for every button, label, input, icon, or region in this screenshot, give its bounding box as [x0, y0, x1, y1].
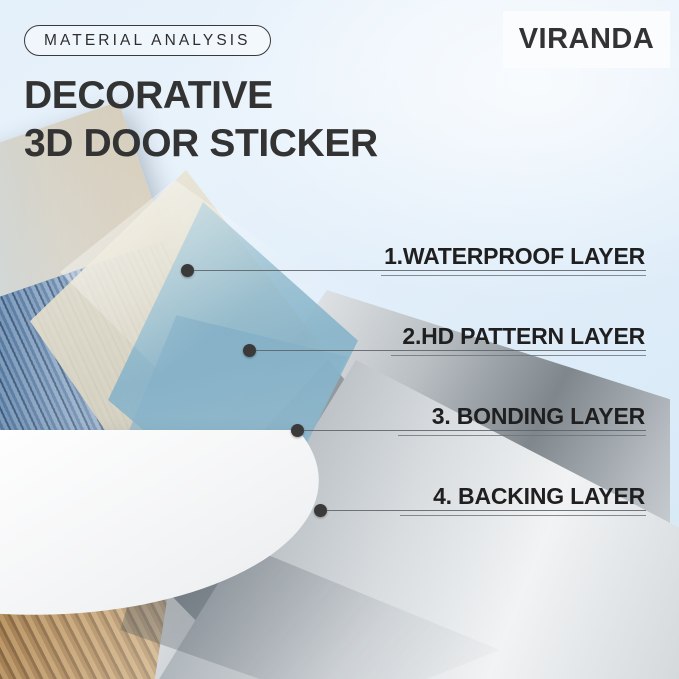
- page-title: DECORATIVE 3D DOOR STICKER: [24, 72, 378, 168]
- callout-3-leader-line: [304, 430, 646, 431]
- callout-3-underline: [398, 435, 646, 436]
- material-analysis-badge: MATERIAL ANALYSIS: [24, 25, 271, 56]
- infographic-canvas: MATERIAL ANALYSIS VIRANDA DECORATIVE 3D …: [0, 0, 679, 679]
- title-line-2: 3D DOOR STICKER: [24, 120, 378, 168]
- callout-2-label: 2.HD PATTERN LAYER: [345, 323, 645, 350]
- callout-1-label: 1.WATERPROOF LAYER: [345, 243, 645, 270]
- callout-2-dot: [243, 344, 256, 357]
- callout-2-underline: [391, 355, 646, 356]
- material-analysis-badge-label: MATERIAL ANALYSIS: [44, 32, 251, 50]
- callout-4-label: 4. BACKING LAYER: [345, 483, 645, 510]
- brand-name: VIRANDA: [519, 23, 655, 56]
- callout-3-dot: [291, 424, 304, 437]
- callout-2-leader-line: [256, 350, 646, 351]
- callout-1-underline: [381, 275, 646, 276]
- callout-1-dot: [181, 264, 194, 277]
- callout-4-dot: [314, 504, 327, 517]
- brand-logo-box: VIRANDA: [503, 11, 670, 68]
- title-line-1: DECORATIVE: [24, 72, 378, 120]
- callout-1-leader-line: [194, 270, 646, 271]
- callout-4-leader-line: [327, 510, 646, 511]
- callout-3-label: 3. BONDING LAYER: [345, 403, 645, 430]
- callout-4-underline: [400, 515, 646, 516]
